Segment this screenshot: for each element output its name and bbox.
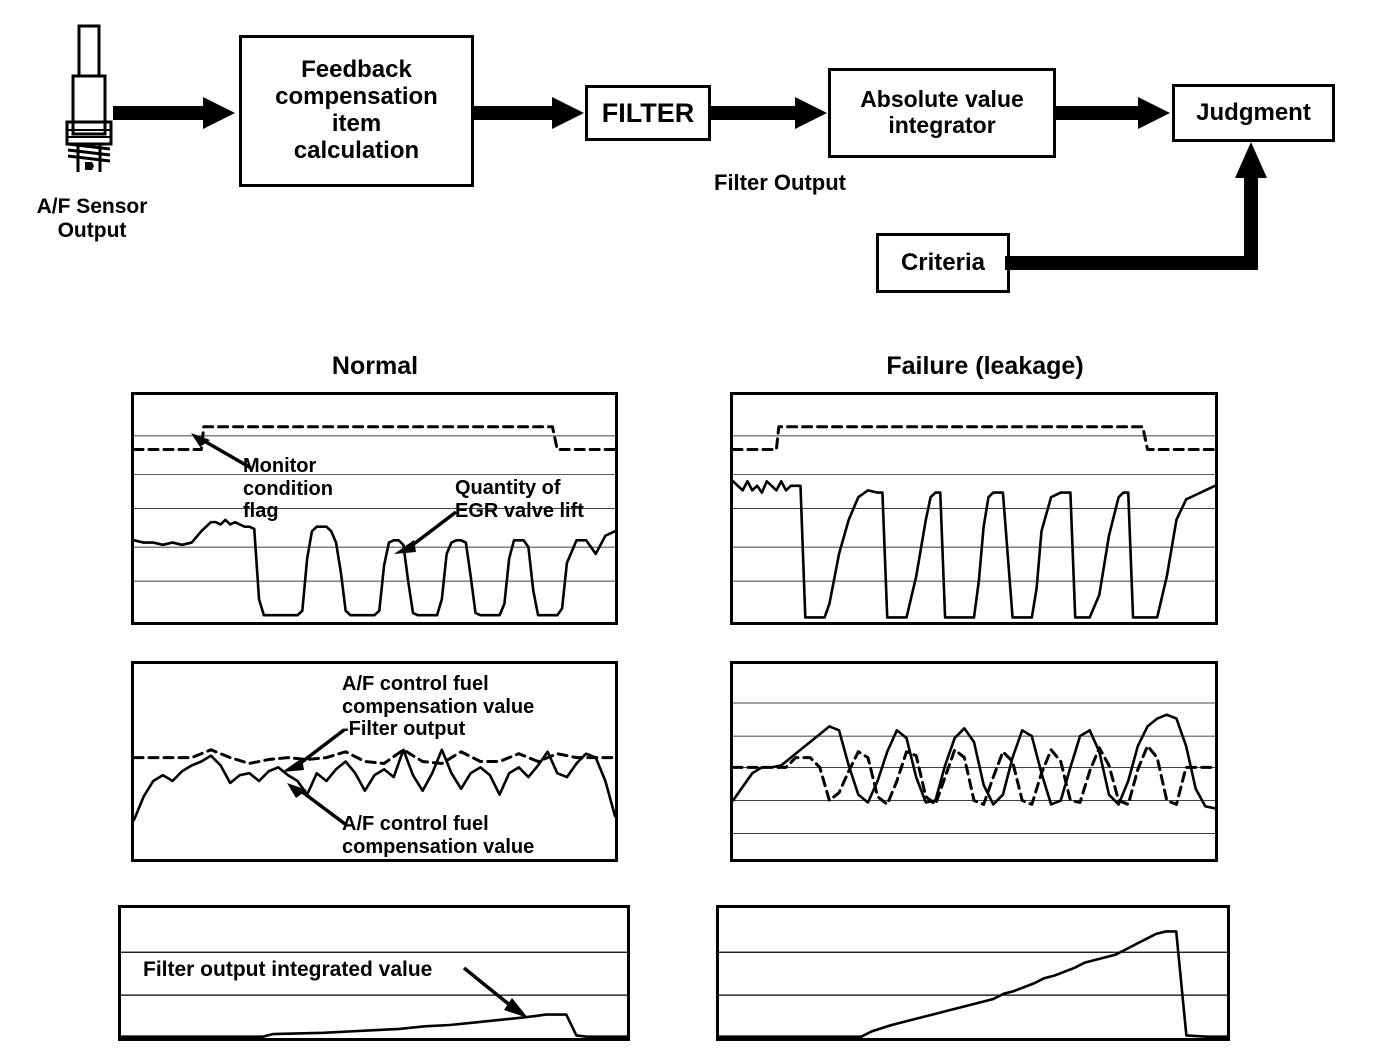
arrow-sensor-to-feedback — [113, 95, 238, 131]
block-criteria-label: Criteria — [901, 250, 985, 277]
column-title-failure: Failure (leakage) — [855, 352, 1115, 381]
arrow-criteria-to-judgment — [1005, 140, 1275, 275]
block-feedback-compensation-label: Feedback compensation item calculation — [275, 57, 438, 165]
sensor-output-caption: A/F Sensor Output — [12, 195, 172, 243]
annotation-af-compensation-value-leader — [283, 782, 349, 828]
chart-failure-egr — [730, 392, 1218, 625]
annotation-filter-output-integrated-leader — [460, 966, 532, 1022]
filter-output-label: Filter Output — [660, 170, 900, 195]
block-judgment-label: Judgment — [1196, 100, 1311, 127]
block-filter-label: FILTER — [602, 98, 694, 128]
annotation-af-filter-output-leader — [278, 728, 348, 774]
block-absolute-value-integrator-label: Absolute value integrator — [860, 87, 1024, 139]
annotation-filter-output-integrated: Filter output integrated value — [143, 958, 473, 982]
block-criteria[interactable]: Criteria — [876, 233, 1010, 293]
annotation-af-filter-output: A/F control fuel compensation value -Fil… — [342, 673, 582, 741]
chart-failure-integral — [716, 905, 1230, 1041]
block-filter[interactable]: FILTER — [585, 85, 711, 141]
arrow-filter-to-integrator — [711, 95, 829, 131]
annotation-quantity-of-egr-valve-lift: Quantity of EGR valve lift — [455, 477, 655, 522]
annotation-quantity-egr-leader — [390, 508, 460, 556]
chart-failure-fuel — [730, 661, 1218, 862]
block-feedback-compensation[interactable]: Feedback compensation item calculation — [239, 35, 474, 187]
block-judgment[interactable]: Judgment — [1172, 84, 1335, 142]
arrow-integrator-to-judgment — [1056, 95, 1173, 131]
column-title-normal: Normal — [255, 352, 495, 381]
arrow-feedback-to-filter — [474, 95, 586, 131]
annotation-monitor-condition-flag-leader — [185, 432, 255, 472]
annotation-af-compensation-value: A/F control fuel compensation value — [342, 813, 592, 858]
